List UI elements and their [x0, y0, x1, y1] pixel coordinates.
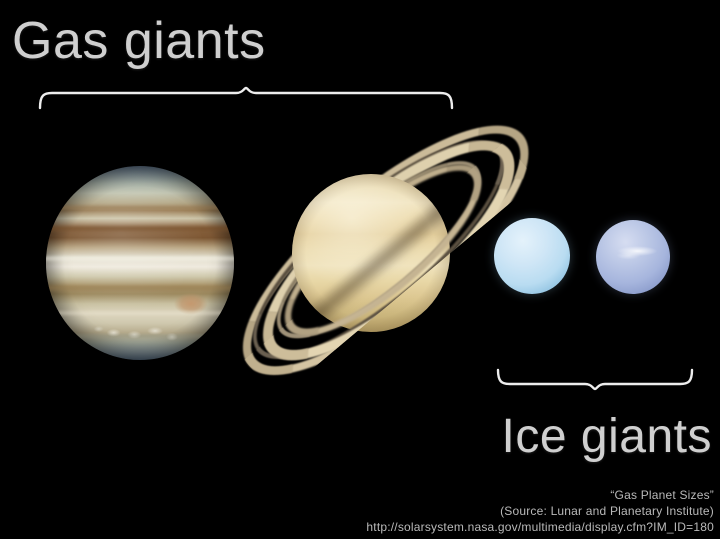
ice-giants-heading: Ice giants	[502, 410, 712, 464]
planet-saturn	[228, 96, 518, 402]
caption-url[interactable]: http://solarsystem.nasa.gov/multimedia/d…	[366, 519, 714, 535]
ice-giants-brace	[496, 368, 694, 392]
planet-uranus	[494, 218, 570, 294]
slide-canvas: Gas giants	[0, 0, 720, 539]
source-caption: “Gas Planet Sizes” (Source: Lunar and Pl…	[366, 487, 714, 535]
planet-neptune	[596, 220, 670, 294]
caption-title: “Gas Planet Sizes”	[366, 487, 714, 503]
jupiter-band-overlay	[46, 166, 234, 360]
gas-giants-heading: Gas giants	[12, 12, 266, 70]
planet-jupiter	[46, 166, 234, 360]
caption-source: (Source: Lunar and Planetary Institute)	[366, 503, 714, 519]
